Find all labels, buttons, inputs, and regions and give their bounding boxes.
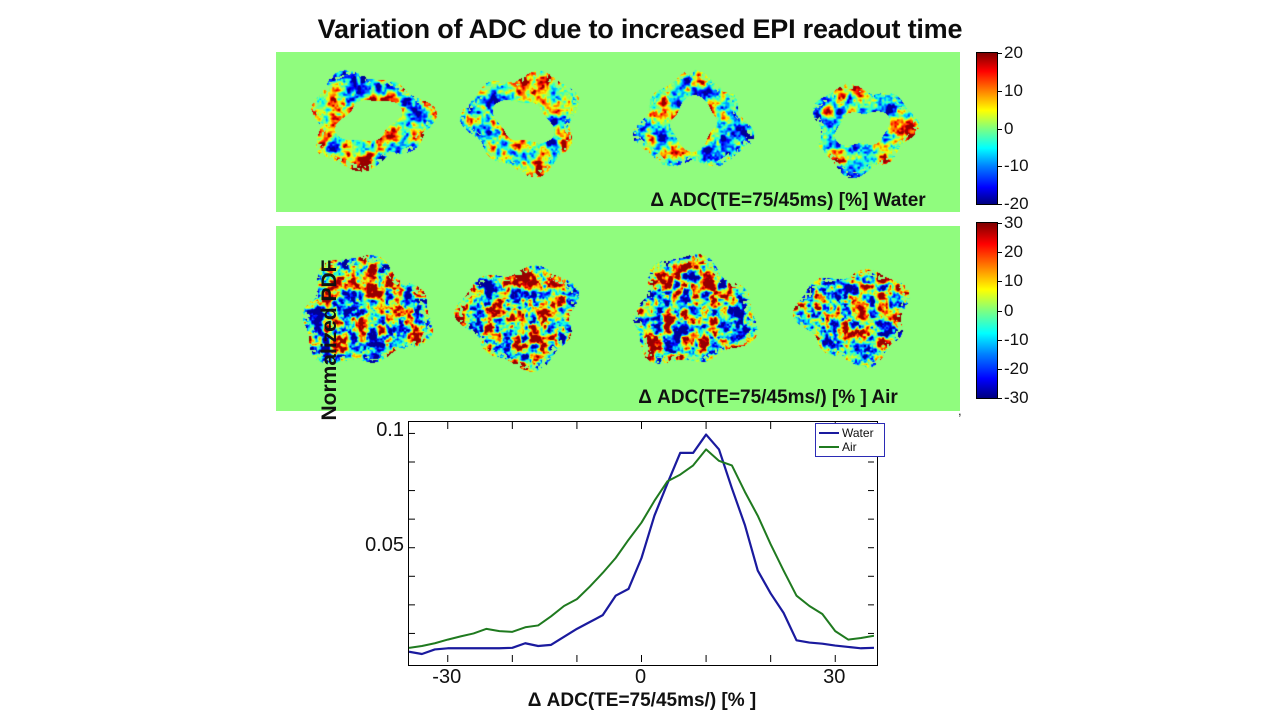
colorbar-tick	[997, 340, 1002, 341]
legend-item: Air	[819, 440, 881, 454]
adc-parametric-map	[628, 68, 758, 178]
legend-item: Water	[819, 426, 881, 440]
plot-legend: WaterAir	[815, 423, 885, 457]
map-panel-air: Δ ADC(TE=75/45ms/) [% ] Air	[276, 226, 960, 411]
panel-caption-water: Δ ADC(TE=75/45ms) [%] Water	[276, 190, 960, 212]
figure-title: Variation of ADC due to increased EPI re…	[0, 14, 1280, 45]
adc-parametric-map	[804, 76, 920, 180]
legend-label: Air	[842, 440, 857, 454]
colorbar-tick-label: 10	[1004, 81, 1023, 101]
map-panel-water: Δ ADC(TE=75/45ms) [%] Water	[276, 52, 960, 212]
colorbar-gradient-water: 20100-10-20	[976, 52, 998, 205]
colorbar-tick-label: 30	[1004, 213, 1023, 233]
colorbar-tick	[997, 53, 1002, 54]
colorbar-tick	[997, 252, 1002, 253]
pdf-curve-water	[409, 435, 874, 654]
adc-parametric-map	[452, 256, 588, 374]
map-image-row-water	[276, 52, 960, 212]
colorbar-water: 20100-10-20	[976, 52, 998, 205]
colorbar-tick-label: -10	[1004, 156, 1029, 176]
pdf-plot-svg	[409, 422, 874, 662]
adc-parametric-map	[458, 62, 588, 180]
colorbar-air: 3020100-10-20-30	[976, 222, 998, 399]
x-axis-tick-label: 30	[799, 666, 869, 689]
y-axis-tick-label: 0.05	[342, 534, 404, 557]
colorbar-tick-label: -30	[1004, 388, 1029, 408]
x-axis-tick-label: -30	[412, 666, 482, 689]
adc-parametric-map	[298, 64, 438, 176]
colorbar-tick-label: -20	[1004, 194, 1029, 214]
colorbar-tick	[997, 398, 1002, 399]
colorbar-tick-label: 10	[1004, 271, 1023, 291]
pdf-plot-axes	[408, 421, 878, 666]
colorbar-tick	[997, 281, 1002, 282]
legend-color-swatch	[819, 432, 839, 434]
map-image-row-air	[276, 226, 960, 411]
panel-caption-air: Δ ADC(TE=75/45ms/) [% ] Air	[276, 387, 960, 409]
colorbar-tick-label: -20	[1004, 359, 1029, 379]
colorbar-tick	[997, 223, 1002, 224]
adc-parametric-map	[290, 248, 438, 376]
stray-comma-artifact: ,	[958, 403, 962, 418]
colorbar-tick-label: 0	[1004, 119, 1013, 139]
colorbar-gradient-air: 3020100-10-20-30	[976, 222, 998, 399]
colorbar-tick-label: -10	[1004, 330, 1029, 350]
x-axis-label: Δ ADC(TE=75/45ms/) [% ]	[408, 690, 876, 712]
colorbar-tick	[997, 129, 1002, 130]
colorbar-tick	[997, 166, 1002, 167]
pdf-curve-air	[409, 449, 874, 647]
colorbar-tick-label: 20	[1004, 43, 1023, 63]
y-axis-tick-label: 0.1	[342, 419, 404, 442]
colorbar-tick-label: 0	[1004, 301, 1013, 321]
y-axis-label: Normalized PDF	[318, 240, 342, 440]
colorbar-tick	[997, 91, 1002, 92]
colorbar-tick	[997, 369, 1002, 370]
colorbar-tick-label: 20	[1004, 242, 1023, 262]
legend-label: Water	[842, 426, 874, 440]
colorbar-tick	[997, 311, 1002, 312]
legend-color-swatch	[819, 446, 839, 448]
adc-parametric-map	[622, 248, 762, 376]
x-axis-tick-label: 0	[606, 666, 676, 689]
adc-parametric-map	[790, 260, 918, 370]
colorbar-tick	[997, 204, 1002, 205]
